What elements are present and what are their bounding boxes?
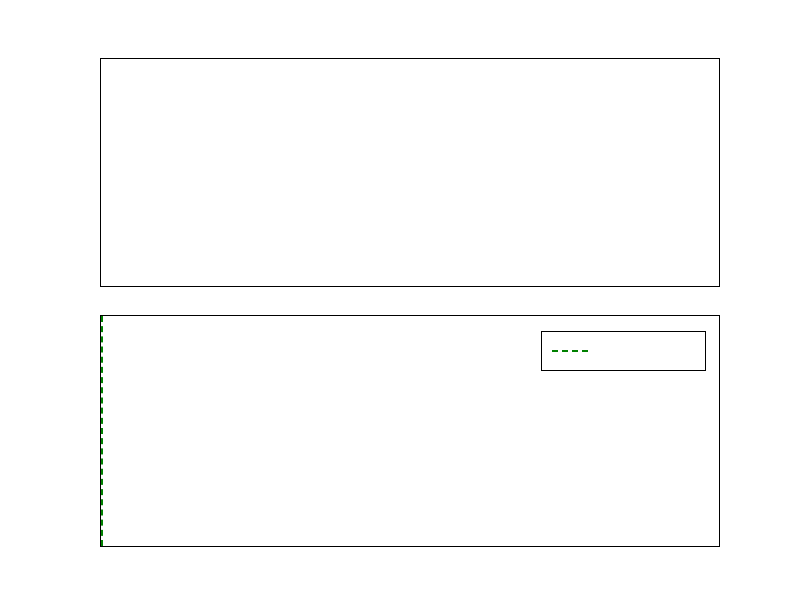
- legend[interactable]: [541, 331, 706, 371]
- mag-limit-vline: [101, 316, 103, 546]
- cumulative-histogram-axes: [100, 315, 720, 547]
- differential-histogram-axes: [100, 58, 720, 287]
- histogram-bars-layer: [101, 59, 719, 286]
- mag-limit-dashed-swatch-icon: [552, 350, 588, 352]
- figure-canvas: [0, 0, 800, 600]
